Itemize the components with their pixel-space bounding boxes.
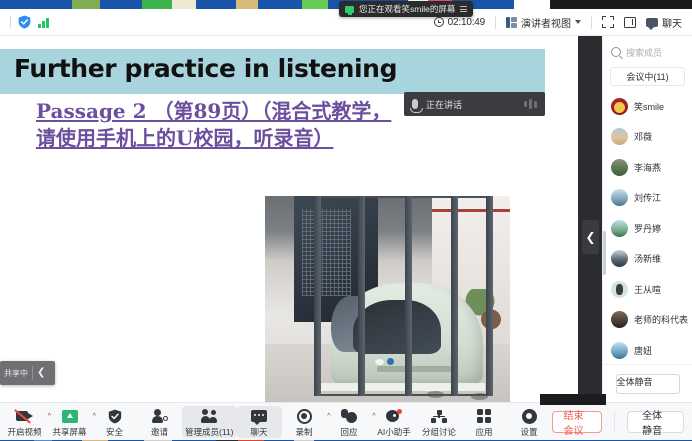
participant-name: 王从喧	[634, 283, 661, 296]
toolbar-label: 设置	[520, 426, 537, 438]
slide-subtitle-line-2: 请使用手机上的U校园，听录音）	[36, 125, 536, 152]
slide-title: Further practice in listening	[14, 54, 534, 83]
toolbar-button-reactions[interactable]: 回应 ^	[327, 406, 372, 438]
audio-waveform-icon	[524, 99, 537, 109]
list-item[interactable]: 邓薇	[603, 122, 692, 153]
toolbar-label: 聊天	[250, 426, 267, 438]
list-item[interactable]: 唐妞	[603, 335, 692, 364]
fullscreen-icon	[602, 16, 614, 28]
avatar	[611, 250, 628, 267]
chevron-left-icon: ❮	[585, 230, 595, 244]
toolbar-button-breakout-rooms[interactable]: 分组讨论	[417, 406, 462, 438]
toolbar-label: 管理成员(11)	[185, 426, 234, 438]
participants-panel: 搜索成员 会议中(11) 笑smile 邓薇 李海燕 刘传江 罗丹婷 汤新维 王…	[602, 36, 692, 402]
participant-name: 罗丹婷	[634, 222, 661, 235]
overlay-black-bar	[540, 394, 606, 405]
participant-list[interactable]: 笑smile 邓薇 李海燕 刘传江 罗丹婷 汤新维 王从喧 老师的科代表 唐妞 …	[603, 91, 692, 364]
participant-search[interactable]: 搜索成员	[603, 39, 692, 65]
participant-name: 老师的科代表	[634, 313, 688, 326]
toolbar-label: 邀请	[151, 426, 168, 438]
collapse-video-strip-button[interactable]: ❮	[582, 220, 599, 254]
toolbar-label: AI小助手	[377, 426, 411, 438]
share-screen-icon	[62, 408, 78, 425]
list-item[interactable]: 刘传江	[603, 183, 692, 214]
toolbar-button-apps[interactable]: 应用	[462, 406, 507, 438]
toolbar-button-record[interactable]: 录制 ^	[282, 406, 327, 438]
toolbar-button-chat[interactable]: 聊天	[237, 406, 282, 438]
toolbar-label: 安全	[106, 426, 123, 438]
toolbar-button-manage-participants[interactable]: 管理成员(11)	[182, 406, 237, 438]
toolbar-button-invite[interactable]: 邀请	[137, 406, 182, 438]
speaker-view-icon	[506, 17, 517, 28]
invite-icon	[152, 408, 168, 425]
microphone-icon	[412, 99, 418, 109]
ai-assistant-icon	[386, 408, 402, 425]
reactions-icon	[341, 408, 357, 425]
chat-toggle-label: 聊天	[662, 15, 682, 30]
screen-share-notice[interactable]: 您正在观看笑smile的屏幕	[339, 1, 473, 17]
avatar	[611, 159, 628, 176]
toolbar-divider	[614, 411, 615, 433]
meeting-toolbar: 开启视频 ^ 共享屏幕 ^ 安全 邀请	[0, 402, 692, 440]
list-item[interactable]: 王从喧	[603, 274, 692, 305]
chevron-down-icon	[575, 20, 581, 24]
avatar	[611, 342, 628, 359]
participant-name: 邓薇	[634, 130, 652, 143]
meeting-header-bar: 02:10:49 演讲者视图 聊天 您正在观看笑smile的屏幕	[0, 9, 692, 36]
layout-icon	[624, 17, 636, 28]
participants-panel-footer: 全体静音	[603, 364, 692, 402]
settings-gear-icon	[522, 408, 537, 425]
toolbar-label: 应用	[475, 426, 492, 438]
shared-screen-stage[interactable]: Further practice in listening Passage 2 …	[0, 36, 578, 402]
more-options-icon[interactable]	[460, 6, 467, 12]
mini-toolbar-divider	[32, 366, 33, 380]
tab-in-meeting[interactable]: 会议中(11)	[610, 67, 685, 86]
avatar	[611, 311, 628, 328]
video-strip-gutter	[578, 36, 602, 402]
list-item[interactable]: 李海燕	[603, 152, 692, 183]
slide-photo	[265, 196, 510, 402]
shield-icon	[108, 408, 122, 425]
shared-screen-mini-toolbar[interactable]: 共享中 ❮	[0, 361, 55, 385]
participant-name: 笑smile	[634, 100, 664, 113]
chat-toggle-button[interactable]: 聊天	[646, 15, 682, 30]
avatar	[611, 128, 628, 145]
avatar	[611, 220, 628, 237]
participant-name: 刘传江	[634, 191, 661, 204]
list-item[interactable]: 汤新维	[603, 244, 692, 275]
search-icon	[611, 47, 621, 57]
presentation-slide: Further practice in listening Passage 2 …	[0, 36, 578, 402]
participant-name: 唐妞	[634, 344, 652, 357]
toolbar-button-ai-assistant[interactable]: AI小助手	[372, 406, 417, 438]
header-divider	[10, 16, 11, 28]
clock-icon	[434, 17, 444, 27]
mute-all-toolbar-button[interactable]: 全体静音	[627, 411, 684, 433]
mute-all-button[interactable]: 全体静音	[616, 374, 680, 394]
mini-toolbar-label: 共享中	[0, 368, 28, 379]
apps-icon	[477, 408, 491, 425]
list-item[interactable]: 老师的科代表	[603, 305, 692, 336]
breakout-rooms-icon	[431, 408, 447, 425]
timer-value: 02:10:49	[448, 17, 485, 28]
avatar	[611, 281, 628, 298]
toolbar-label: 开启视频	[7, 426, 41, 438]
toolbar-button-settings[interactable]: 设置	[507, 406, 552, 438]
zoom-meeting-window: 02:10:49 演讲者视图 聊天 您正在观看笑smile的屏幕	[0, 9, 692, 431]
fullscreen-button[interactable]	[602, 16, 614, 28]
chat-icon	[646, 18, 658, 27]
toolbar-label: 录制	[295, 426, 312, 438]
slide-subtitle-line-1: Passage 2 （第89页）（混合式教学，	[36, 99, 391, 123]
view-mode-label: 演讲者视图	[521, 15, 571, 30]
chat-icon	[251, 408, 267, 425]
meeting-timer: 02:10:49	[434, 17, 485, 28]
participant-list-scrollbar[interactable]	[603, 231, 606, 275]
toolbar-button-start-video[interactable]: 开启视频 ^	[2, 406, 47, 438]
view-mode-selector[interactable]: 演讲者视图	[506, 15, 581, 30]
avatar	[611, 98, 628, 115]
avatar	[611, 189, 628, 206]
participant-name: 汤新维	[634, 252, 661, 265]
speaking-indicator-label: 正在讲话	[426, 98, 462, 111]
participants-icon	[201, 408, 217, 425]
layout-button[interactable]	[624, 17, 636, 28]
chevron-left-icon[interactable]: ❮	[37, 368, 45, 378]
speaking-indicator-overlay[interactable]: 正在讲话	[404, 92, 545, 116]
header-separator	[495, 16, 496, 29]
toolbar-label: 回应	[340, 426, 357, 438]
list-item[interactable]: 罗丹婷	[603, 213, 692, 244]
signal-bars-icon[interactable]	[38, 17, 49, 28]
list-item[interactable]: 笑smile	[603, 91, 692, 122]
toolbar-button-security[interactable]: 安全	[92, 406, 137, 438]
participant-name: 李海燕	[634, 161, 661, 174]
record-icon	[297, 408, 312, 425]
end-meeting-button[interactable]: 结束会议	[552, 411, 603, 433]
monitor-icon	[345, 6, 354, 13]
toolbar-label: 分组讨论	[422, 426, 456, 438]
toolbar-label: 共享屏幕	[52, 426, 86, 438]
video-off-icon	[16, 408, 33, 425]
header-separator-2	[591, 16, 592, 29]
toolbar-button-share-screen[interactable]: 共享屏幕 ^	[47, 406, 92, 438]
shield-check-icon[interactable]	[18, 15, 31, 29]
screen-share-notice-text: 您正在观看笑smile的屏幕	[359, 3, 455, 15]
search-input[interactable]: 搜索成员	[626, 46, 662, 59]
